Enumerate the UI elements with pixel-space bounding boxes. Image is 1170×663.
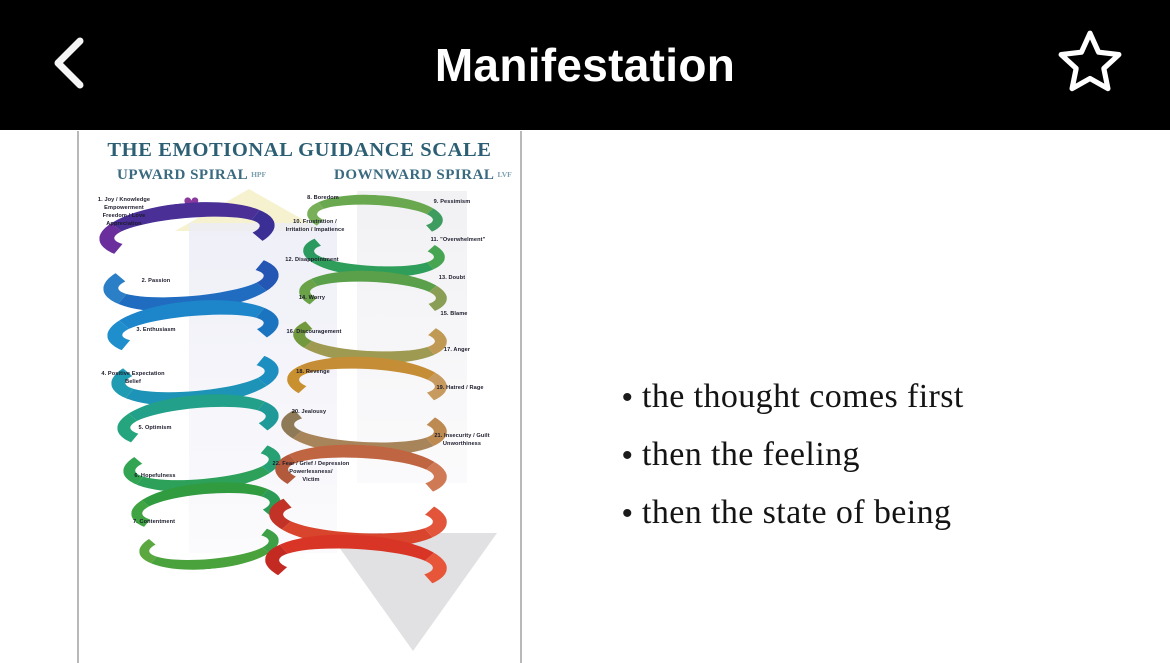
favorite-button[interactable]	[1052, 22, 1128, 104]
bullet-icon: •	[622, 499, 642, 529]
chevron-left-icon	[48, 35, 90, 91]
bullet-text-1: the thought comes first	[642, 378, 964, 416]
downward-item-19: 19. Hatred / Rage	[417, 385, 503, 393]
star-outline-icon	[1057, 28, 1123, 99]
diagram-title: THE EMOTIONAL GUIDANCE SCALE	[79, 139, 520, 162]
bullet-text-2: then the feeling	[642, 436, 860, 474]
upward-item-1: 1. Joy / Knowledge Empowerment Freedom /…	[81, 197, 167, 229]
downward-item-14: 14. Worry	[277, 295, 347, 303]
upward-item-4: 4. Positive Expectation Belief	[79, 371, 187, 387]
bullet-text-3: then the state of being	[642, 494, 951, 532]
downward-item-18: 18. Revenge	[275, 369, 351, 377]
list-item: • then the state of being	[622, 494, 1082, 532]
upward-spiral-tag: HPF	[251, 170, 266, 179]
downward-item-12: 12. Disappointment	[265, 257, 359, 265]
upward-item-3: 3. Enthusiasm	[115, 327, 197, 335]
upward-item-5: 5. Optimism	[115, 425, 195, 433]
downward-item-13: 13. Doubt	[417, 275, 487, 283]
diagram-canvas: ♥ THE EMOTIONAL GUIDANCE SCALE UPWARD SP…	[79, 131, 520, 663]
bullet-list: • the thought comes first • then the fee…	[622, 378, 1082, 552]
page-title: Manifestation	[435, 38, 735, 92]
downward-item-20: 20. Jealousy	[271, 409, 347, 417]
downward-item-8: 8. Boredom	[287, 195, 359, 203]
upward-spiral-label: UPWARD SPIRAL	[117, 167, 248, 183]
downward-item-21: 21. Insecurity / Guilt Unworthiness	[413, 433, 511, 449]
downward-item-10: 10. Frustration / Irritation / Impatienc…	[265, 219, 365, 235]
downward-item-16: 16. Discouragement	[265, 329, 363, 337]
upward-item-7: 7. Contentment	[109, 519, 199, 527]
upward-item-2: 2. Passion	[117, 278, 195, 286]
bullet-icon: •	[622, 441, 642, 471]
downward-item-9: 9. Pessimism	[415, 199, 489, 207]
downward-item-11: 11. "Overwhelment"	[413, 237, 503, 245]
list-item: • then the feeling	[622, 436, 1082, 474]
downward-item-15: 15. Blame	[419, 311, 489, 319]
downward-spiral-tag: LVF	[497, 170, 511, 179]
bullet-icon: •	[622, 383, 642, 413]
upward-item-6: 6. Hopefulness	[111, 473, 199, 481]
upward-spiral-heading: UPWARD SPIRALHPF	[117, 167, 266, 184]
downward-spiral-label: DOWNWARD SPIRAL	[334, 167, 494, 183]
downward-spiral-heading: DOWNWARD SPIRALLVF	[334, 167, 512, 184]
list-item: • the thought comes first	[622, 378, 1082, 416]
downward-item-22: 22. Fear / Grief / Depression Powerlessn…	[251, 461, 371, 485]
emotional-guidance-scale-image[interactable]: ♥ THE EMOTIONAL GUIDANCE SCALE UPWARD SP…	[77, 131, 522, 663]
back-button[interactable]	[34, 24, 104, 102]
app-header: Manifestation	[0, 0, 1170, 130]
downward-item-17: 17. Anger	[423, 347, 491, 355]
